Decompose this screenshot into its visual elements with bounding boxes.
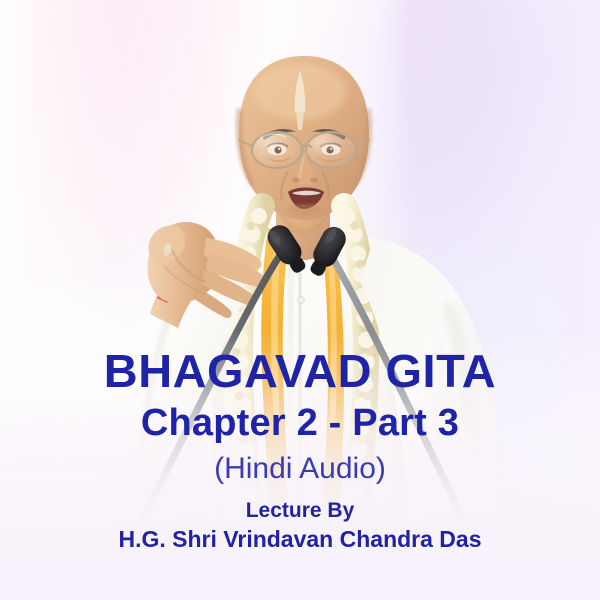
poster-canvas: BHAGAVAD GITA Chapter 2 - Part 3 (Hindi … xyxy=(0,0,600,600)
language-label: (Hindi Audio) xyxy=(0,454,600,484)
chapter-subtitle: Chapter 2 - Part 3 xyxy=(0,404,600,442)
speaker-name: H.G. Shri Vrindavan Chandra Das xyxy=(0,528,600,551)
page-title: BHAGAVAD GITA xyxy=(0,348,600,394)
title-text-block: BHAGAVAD GITA Chapter 2 - Part 3 (Hindi … xyxy=(0,348,600,551)
lecture-by-label: Lecture By xyxy=(0,500,600,521)
